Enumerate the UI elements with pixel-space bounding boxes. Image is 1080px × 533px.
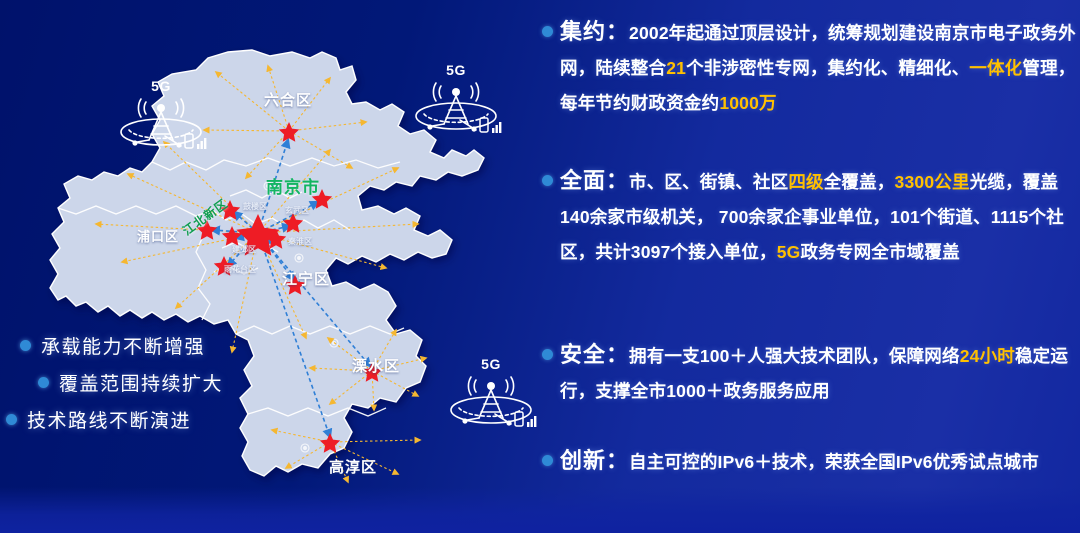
bullet-dot-icon bbox=[542, 26, 553, 37]
body-text: 市、区、街镇、社区 bbox=[629, 172, 788, 192]
bullet-dot-icon bbox=[542, 455, 553, 466]
badge-5g-northwest: 5G bbox=[113, 78, 209, 154]
highlight-text: 1000万 bbox=[719, 93, 776, 113]
list-item-label: 承载能力不断增强 bbox=[41, 332, 205, 359]
cell-tower-icon bbox=[443, 372, 539, 432]
paragraph-runs: 拥有一支100＋人强大技术团队，保障网络24小时稳定运行，支撑全市1000＋政务… bbox=[560, 346, 1068, 401]
list-item: 覆盖范围持续扩大 bbox=[6, 367, 256, 397]
list-item-label: 覆盖范围持续扩大 bbox=[59, 369, 223, 396]
highlight-text: 21 bbox=[666, 58, 686, 78]
list-item-label: 技术路线不断演进 bbox=[27, 406, 191, 433]
highlight-text: 24小时 bbox=[960, 346, 1015, 366]
highlight-text: 5G bbox=[777, 242, 801, 262]
highlight-text: 3300公里 bbox=[895, 172, 970, 192]
body-text: 自主可控的IPv6＋技术，荣获全国IPv6优秀试点城市 bbox=[629, 452, 1039, 472]
capability-bullet-list: 承载能力不断增强 覆盖范围持续扩大 技术路线不断演进 bbox=[6, 330, 256, 441]
paragraph-text: 全面：市、区、街镇、社区四级全覆盖，3300公里光缆，覆盖140余家市级机关， … bbox=[560, 163, 1080, 270]
badge-5g-label: 5G bbox=[481, 356, 501, 372]
body-text: 政务专网全市域覆盖 bbox=[800, 242, 959, 262]
paragraph-anquan: 安全：拥有一支100＋人强大技术团队，保障网络24小时稳定运行，支撑全市1000… bbox=[538, 337, 1080, 409]
paragraph-jiyue: 集约：2002年起通过顶层设计，统筹规划建设南京市电子政务外网，陆续整合21个非… bbox=[538, 14, 1080, 121]
cell-tower-icon bbox=[113, 94, 209, 154]
bullet-dot-icon bbox=[38, 377, 49, 388]
bullet-dot-icon bbox=[20, 340, 31, 351]
bullet-dot-icon bbox=[542, 175, 553, 186]
paragraph-heading: 安全： bbox=[560, 342, 629, 367]
paragraph-runs: 2002年起通过顶层设计，统筹规划建设南京市电子政务外网，陆续整合21个非涉密性… bbox=[560, 23, 1076, 113]
bullet-dot-icon bbox=[6, 414, 17, 425]
highlight-text: 四级 bbox=[788, 172, 823, 192]
paragraph-text: 集约：2002年起通过顶层设计，统筹规划建设南京市电子政务外网，陆续整合21个非… bbox=[560, 14, 1080, 121]
list-item: 承载能力不断增强 bbox=[6, 330, 256, 360]
paragraph-runs: 市、区、街镇、社区四级全覆盖，3300公里光缆，覆盖140余家市级机关， 700… bbox=[560, 172, 1064, 262]
slide-root: 六合区 浦口区 江宁区 溧水区 高淳区 南京市 江北新区 鼓楼区 玄武区 秦淮区… bbox=[0, 0, 1080, 533]
highlight-text: 一体化 bbox=[969, 58, 1022, 78]
nanjing-map-panel: 六合区 浦口区 江宁区 溧水区 高淳区 南京市 江北新区 鼓楼区 玄武区 秦淮区… bbox=[0, 0, 540, 533]
badge-5g-northeast: 5G bbox=[408, 62, 504, 138]
body-text: 拥有一支100＋人强大技术团队，保障网络 bbox=[629, 346, 960, 366]
paragraph-text: 安全：拥有一支100＋人强大技术团队，保障网络24小时稳定运行，支撑全市1000… bbox=[560, 337, 1080, 409]
paragraph-heading: 创新： bbox=[560, 448, 629, 473]
paragraph-heading: 集约： bbox=[560, 19, 629, 44]
badge-5g-label: 5G bbox=[151, 78, 171, 94]
badge-5g-label: 5G bbox=[446, 62, 466, 78]
feature-paragraph-column: 集约：2002年起通过顶层设计，统筹规划建设南京市电子政务外网，陆续整合21个非… bbox=[538, 0, 1080, 533]
paragraph-text: 创新：自主可控的IPv6＋技术，荣获全国IPv6优秀试点城市 bbox=[560, 443, 1039, 480]
cell-tower-icon bbox=[408, 78, 504, 138]
paragraph-quanmian: 全面：市、区、街镇、社区四级全覆盖，3300公里光缆，覆盖140余家市级机关， … bbox=[538, 163, 1080, 270]
paragraph-runs: 自主可控的IPv6＋技术，荣获全国IPv6优秀试点城市 bbox=[629, 452, 1039, 472]
body-text: 个非涉密性专网，集约化、精细化、 bbox=[686, 58, 969, 78]
body-text: 全覆盖， bbox=[824, 172, 895, 192]
bullet-dot-icon bbox=[542, 349, 553, 360]
list-item: 技术路线不断演进 bbox=[6, 404, 256, 434]
paragraph-heading: 全面： bbox=[560, 168, 629, 193]
badge-5g-southeast: 5G bbox=[443, 356, 539, 432]
paragraph-chuangxin: 创新：自主可控的IPv6＋技术，荣获全国IPv6优秀试点城市 bbox=[538, 443, 1080, 480]
